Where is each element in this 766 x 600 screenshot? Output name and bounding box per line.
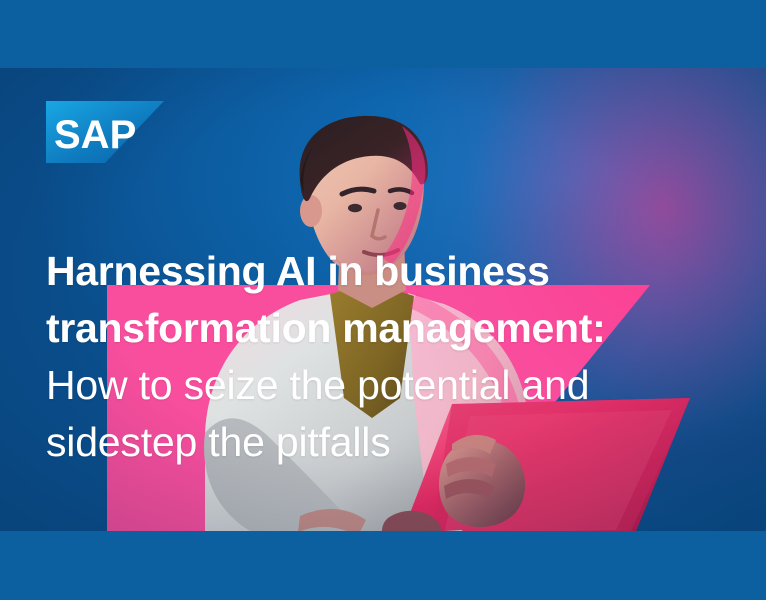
bottom-blue-band bbox=[0, 531, 766, 600]
top-blue-band bbox=[0, 0, 766, 68]
sap-logo[interactable]: SAP bbox=[46, 101, 164, 163]
headline-light-line-2: sidestep the pitfalls bbox=[46, 414, 736, 471]
headline-block: Harnessing AI in business transformation… bbox=[46, 243, 736, 471]
sap-promo-banner: SAP Harnessing AI in business transforma… bbox=[0, 0, 766, 600]
headline-bold-line-2: transformation management: bbox=[46, 300, 736, 357]
headline-bold-line-1: Harnessing AI in business bbox=[46, 243, 736, 300]
headline-light-line-1: How to seize the potential and bbox=[46, 357, 736, 414]
sap-logo-wordmark: SAP bbox=[54, 113, 136, 157]
